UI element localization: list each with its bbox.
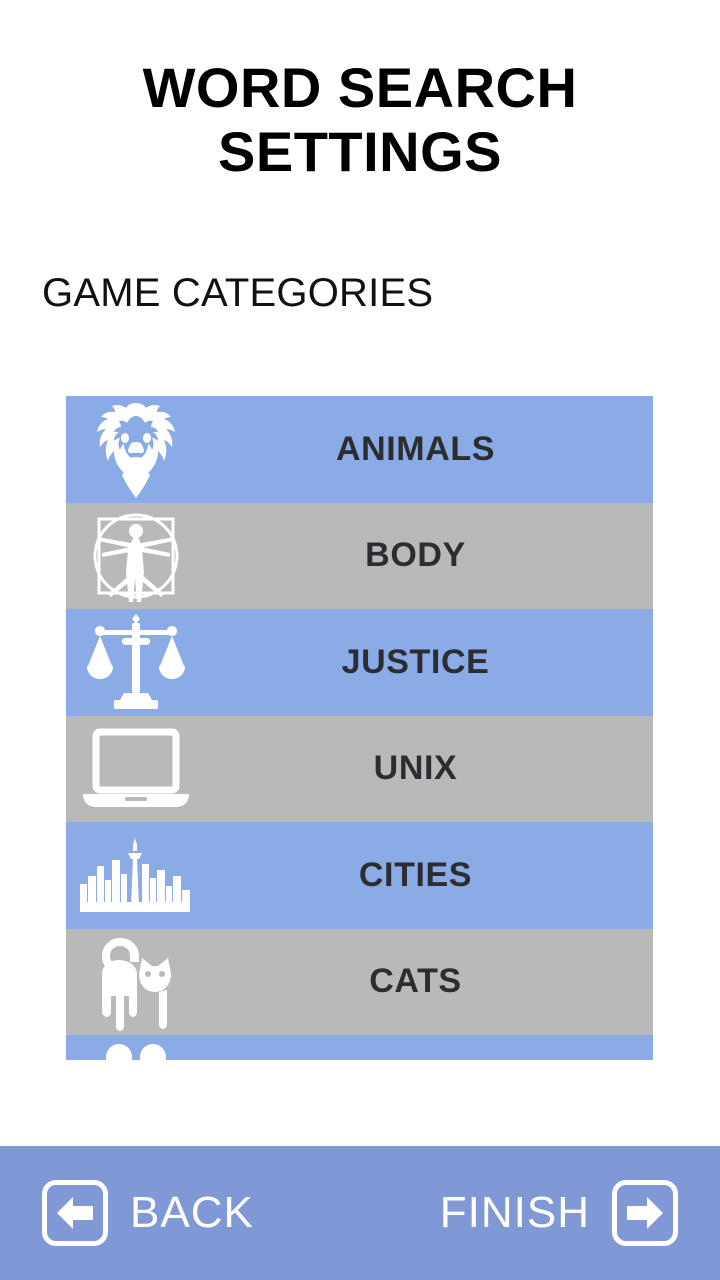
category-row-cities[interactable]: CITIES [66, 822, 653, 929]
category-label: UNIX [206, 749, 653, 788]
category-row-cats[interactable]: CATS [66, 929, 653, 1036]
section-heading-game-categories: GAME CATEGORIES [0, 271, 720, 316]
finish-button[interactable]: FINISH [440, 1180, 678, 1246]
category-label: BODY [206, 536, 653, 575]
page-title-line1: WORD SEARCH [40, 56, 680, 120]
category-row-animals[interactable]: ANIMALS [66, 396, 653, 503]
laptop-icon [66, 716, 206, 823]
category-row-justice[interactable]: JUSTICE [66, 609, 653, 716]
arrow-right-icon [612, 1180, 678, 1246]
category-row-unix[interactable]: UNIX [66, 716, 653, 823]
category-label: ANIMALS [206, 430, 653, 469]
bottom-navigation-bar: BACK FINISH [0, 1146, 720, 1280]
page-title-line2: SETTINGS [40, 120, 680, 184]
partial-row-icon [66, 1035, 206, 1060]
category-label: CATS [206, 962, 653, 1001]
finish-button-label: FINISH [440, 1188, 590, 1238]
city-skyline-icon [66, 822, 206, 929]
page-title: WORD SEARCH SETTINGS [0, 56, 720, 185]
cat-icon [66, 929, 206, 1036]
word-search-settings-screen: WORD SEARCH SETTINGS GAME CATEGORIES ANI… [0, 0, 720, 1280]
category-label: JUSTICE [206, 643, 653, 682]
lion-head-icon [66, 396, 206, 503]
arrow-left-icon [42, 1180, 108, 1246]
category-row-partial[interactable] [66, 1035, 653, 1060]
scales-of-justice-icon [66, 609, 206, 716]
back-button[interactable]: BACK [42, 1180, 254, 1246]
category-list[interactable]: ANIMALS [66, 396, 653, 1060]
back-button-label: BACK [130, 1188, 254, 1238]
category-label: CITIES [206, 856, 653, 895]
category-row-body[interactable]: BODY [66, 503, 653, 610]
vitruvian-man-icon [66, 503, 206, 610]
